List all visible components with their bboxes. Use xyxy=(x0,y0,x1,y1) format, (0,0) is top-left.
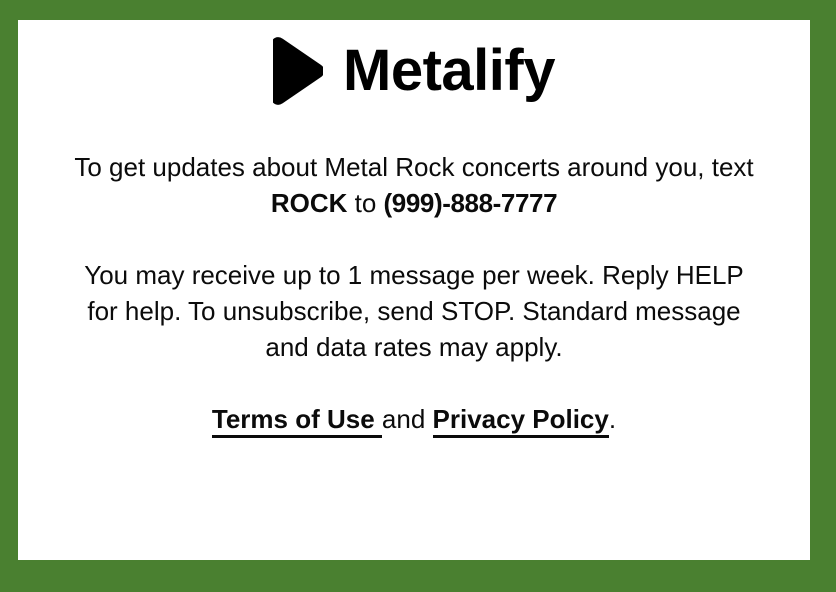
lead-paragraph: To get updates about Metal Rock concerts… xyxy=(74,149,754,221)
fine-print-paragraph: You may receive up to 1 message per week… xyxy=(74,257,754,365)
privacy-policy-link[interactable]: Privacy Policy xyxy=(433,404,609,438)
signup-card: Metalify To get updates about Metal Rock… xyxy=(18,20,810,560)
lead-text-between: to xyxy=(347,188,383,218)
terms-of-use-link[interactable]: Terms of Use xyxy=(212,404,382,438)
lead-text-before: To get updates about Metal Rock concerts… xyxy=(74,152,753,182)
brand-name: Metalify xyxy=(343,42,555,100)
shortcode-phone-number: (999)-888-7777 xyxy=(384,188,558,218)
links-conjunction: and xyxy=(382,404,433,434)
keyword-rock: ROCK xyxy=(271,188,348,218)
brand-logo: Metalify xyxy=(18,20,810,105)
green-frame: Metalify To get updates about Metal Rock… xyxy=(0,0,836,592)
links-period: . xyxy=(609,404,616,434)
play-triangle-icon xyxy=(273,37,323,105)
legal-links: Terms of Use and Privacy Policy. xyxy=(18,401,810,437)
message-body: To get updates about Metal Rock concerts… xyxy=(74,149,754,365)
